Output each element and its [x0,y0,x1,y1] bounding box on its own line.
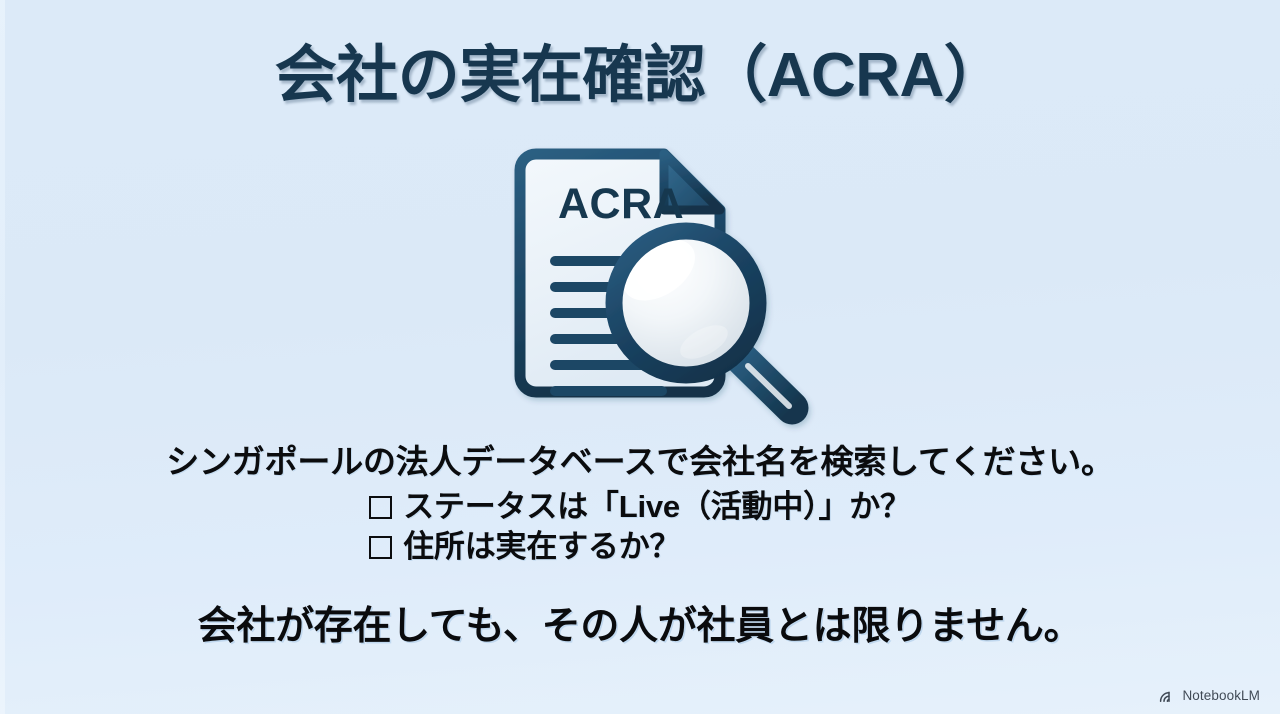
lead-instruction-text: シンガポールの法人データベースで会社名を検索してください。 [0,441,1280,484]
document-label-text: ACRA [558,180,684,228]
notebooklm-watermark: NotebookLM [1159,688,1260,703]
checklist-item-status: ステータスは「Live（活動中）」か？ [369,487,911,527]
notebooklm-spiral-icon [1159,688,1176,703]
document-with-magnifier-icon: ACRA [496,146,826,434]
checkbox-status[interactable] [369,496,392,519]
slide-canvas: 会社の実在確認（ACRA） [0,0,1280,714]
closing-warning-text: 会社が存在しても、その人が社員とは限りません。 [0,595,1280,651]
checklist-item-status-label: ステータスは「Live（活動中）」か？ [403,489,911,524]
checkbox-address[interactable] [369,536,392,559]
body-text-block: シンガポールの法人データベースで会社名を検索してください。 ステータスは「Liv… [0,441,1280,566]
notebooklm-watermark-label: NotebookLM [1182,688,1260,703]
checklist-item-address: 住所は実在するか？ [369,527,911,567]
page-title: 会社の実在確認（ACRA） [0,40,1280,111]
checklist: ステータスは「Live（活動中）」か？ 住所は実在するか？ [369,487,911,566]
checklist-item-address-label: 住所は実在するか？ [403,529,680,564]
magnifier-handle [739,356,792,408]
